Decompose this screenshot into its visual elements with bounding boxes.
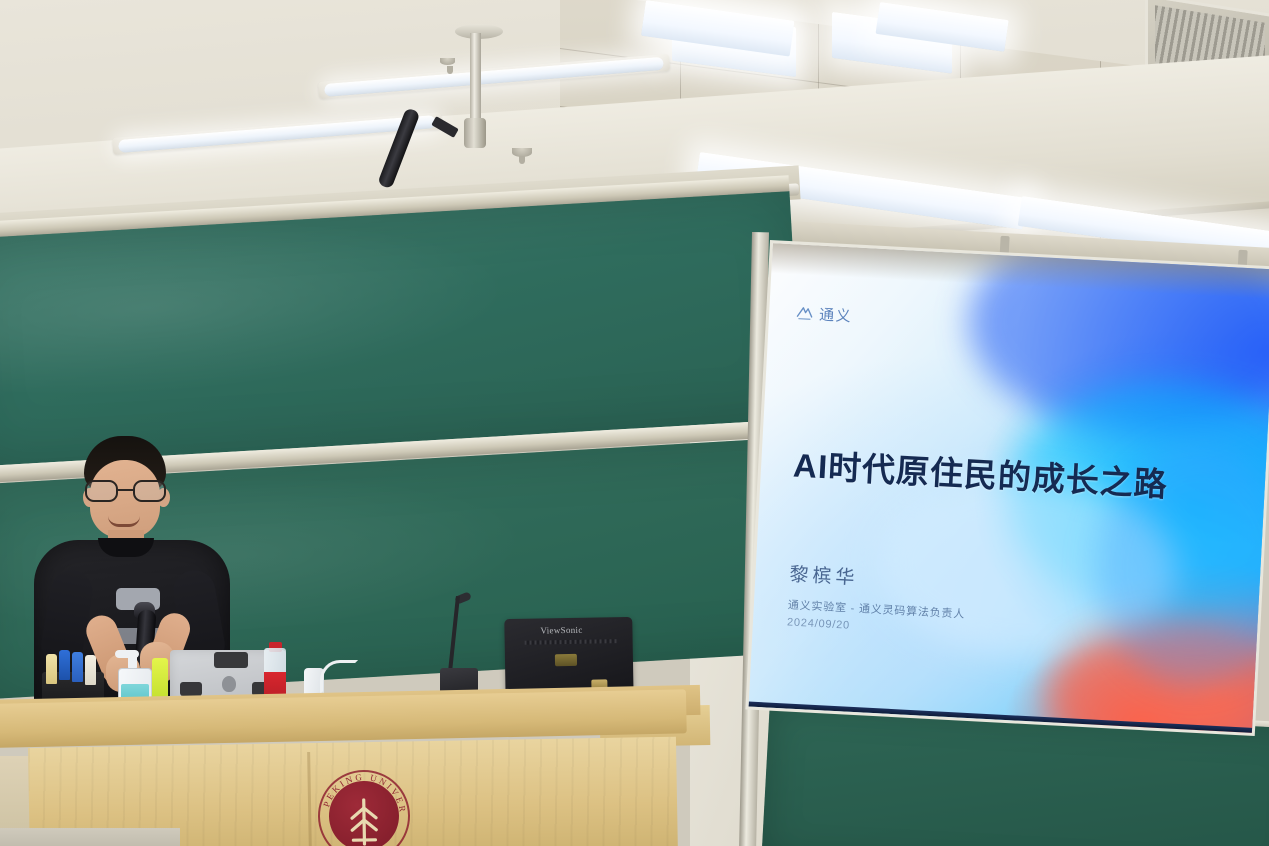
apple-logo-icon (222, 676, 236, 692)
sprinkler-head (512, 148, 532, 157)
tongyi-logo-mark (795, 303, 815, 323)
adapter-cable (320, 660, 358, 694)
marker-white (85, 655, 96, 685)
monitor-brand-label: ViewSonic (540, 625, 582, 636)
slide-speaker-name: 黎槟华 (789, 560, 859, 591)
floor-strip (0, 828, 180, 846)
glasses-bridge (118, 489, 133, 491)
marker-yellow (46, 654, 57, 684)
monitor-vent (525, 639, 617, 645)
sprinkler-head (440, 58, 455, 65)
presenter-glasses (83, 480, 169, 502)
sanitizer-pump (128, 650, 137, 670)
glasses-lens-left (85, 480, 118, 502)
projector-mount-knuckle (464, 118, 486, 148)
laptop-sticker (214, 652, 248, 668)
glasses-lens-right (133, 480, 166, 502)
peking-university-seal: PEKING UNIVERSITY (317, 769, 411, 846)
pku-monogram-icon (344, 796, 385, 846)
marker-blue (59, 650, 70, 680)
projection-screen-frame: 通义 AI时代原住民的成长之路 黎槟华 通义实验室 - 通义灵码算法负责人 20… (745, 240, 1269, 736)
laptop-sticker (180, 682, 202, 696)
tongyi-logo-text: 通义 (819, 304, 853, 327)
slide-date: 2024/09/20 (787, 616, 851, 631)
monitor-badge (555, 654, 577, 666)
tongyi-brand-logo: 通义 (795, 302, 853, 326)
marker-blue-2 (72, 652, 83, 682)
lecture-hall-scene: 通义 AI时代原住民的成长之路 黎槟华 通义实验室 - 通义灵码算法负责人 20… (0, 0, 1269, 846)
projected-slide: 通义 AI时代原住民的成长之路 黎槟华 通义实验室 - 通义灵码算法负责人 20… (749, 243, 1269, 733)
